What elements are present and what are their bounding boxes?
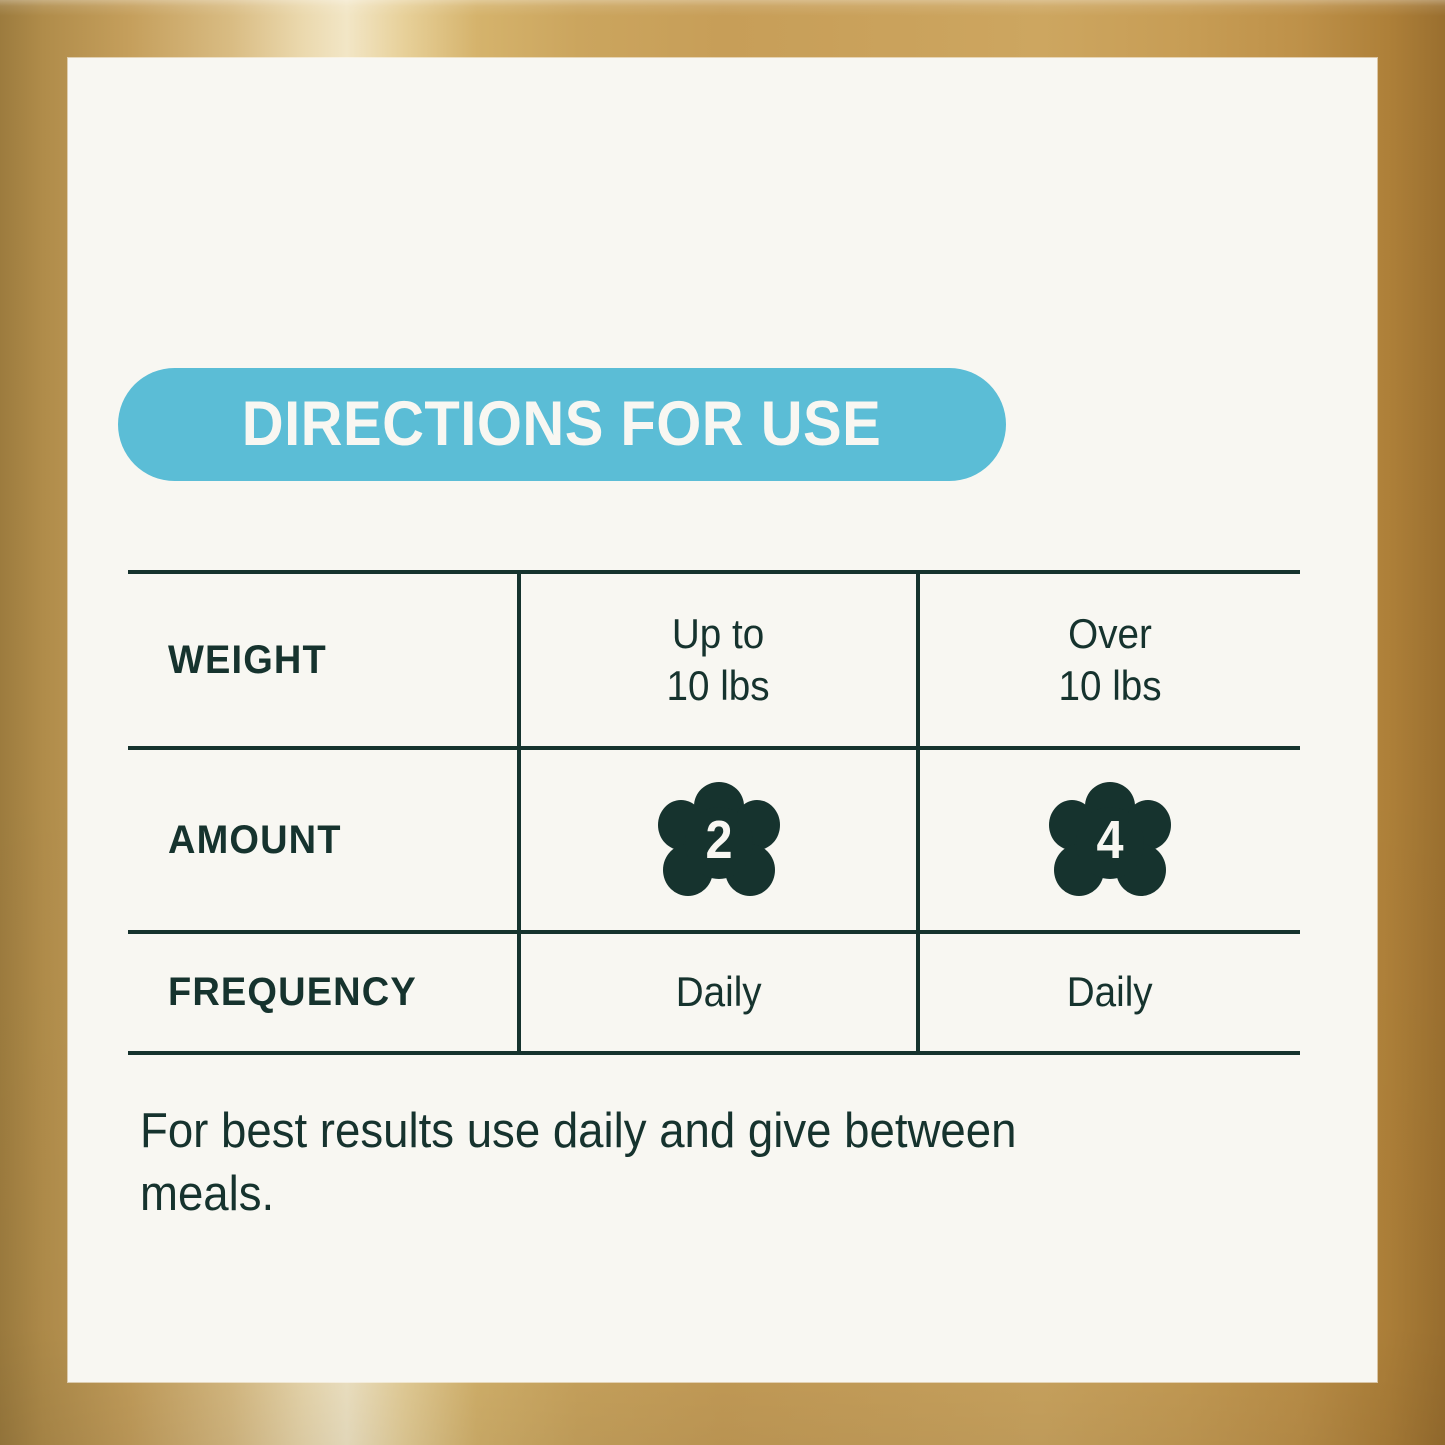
cell-weight-large-line2: 10 lbs [1058, 662, 1161, 709]
page-title: DIRECTIONS FOR USE [242, 393, 881, 456]
table-row: AMOUNT [168, 750, 517, 930]
flower-badge-count: 2 [664, 781, 774, 899]
row-label-weight: WEIGHT [168, 638, 327, 683]
table-row: FREQUENCY [168, 934, 517, 1051]
table-rule-bottom [128, 1051, 1300, 1055]
cell-weight-large-line1: Over [1068, 610, 1152, 657]
flower-badge-icon: 2 [658, 781, 780, 899]
dosage-table: WEIGHT Up to 10 lbs Over 10 lbs AMOUNT [128, 570, 1300, 1054]
directions-header-pill: DIRECTIONS FOR USE [118, 368, 1006, 481]
cell-amount-small: 2 [521, 750, 916, 930]
cell-weight-small-line2: 10 lbs [667, 662, 770, 709]
row-label-amount: AMOUNT [168, 818, 342, 863]
cell-frequency-small: Daily [521, 934, 916, 1051]
flower-badge-count: 4 [1055, 781, 1165, 899]
product-label-panel: DIRECTIONS FOR USE WEIGHT Up to 10 lbs [0, 0, 1445, 1445]
cream-card: DIRECTIONS FOR USE WEIGHT Up to 10 lbs [68, 58, 1377, 1382]
cell-weight-small-line1: Up to [672, 610, 764, 657]
row-label-frequency: FREQUENCY [168, 970, 417, 1015]
flower-badge-icon: 4 [1049, 781, 1171, 899]
cell-frequency-large: Daily [920, 934, 1300, 1051]
cell-weight-large: Over 10 lbs [920, 574, 1300, 746]
footnote-text: For best results use daily and give betw… [140, 1100, 1154, 1225]
table-row: WEIGHT [168, 574, 517, 746]
cell-amount-large: 4 [920, 750, 1300, 930]
cell-weight-small: Up to 10 lbs [521, 574, 916, 746]
